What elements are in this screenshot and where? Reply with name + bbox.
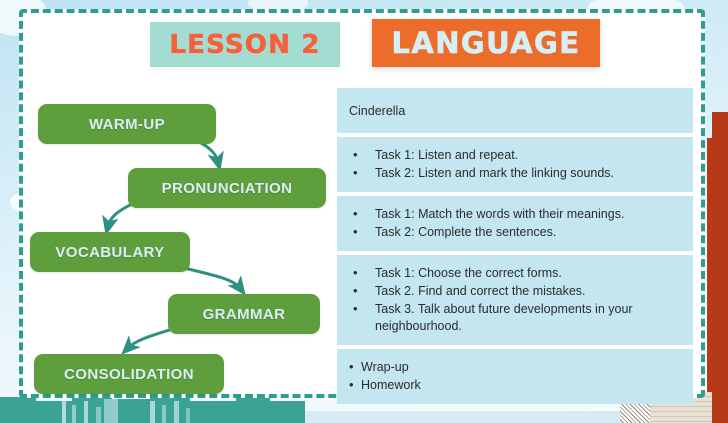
language-banner: LANGUAGE <box>372 19 600 67</box>
arrow-grammar-to-consolidation <box>128 328 176 348</box>
flow-step-label: GRAMMAR <box>203 306 286 323</box>
story-title: Cinderella <box>349 104 405 118</box>
slide-canvas: LESSON 2 LANGUAGE WARM-UP PRONUNCIATION <box>0 0 728 423</box>
table-row: Task 1: Choose the correct forms. Task 2… <box>337 255 693 345</box>
arrow-vocabulary-to-grammar <box>184 268 240 288</box>
list-item: Wrap-up <box>347 359 683 376</box>
list-item: Task 2. Find and correct the mistakes. <box>347 283 683 300</box>
language-banner-label: LANGUAGE <box>392 26 581 60</box>
table-row: Wrap-up Homework <box>337 349 693 404</box>
task-list: Wrap-up Homework <box>347 359 683 394</box>
task-list: Task 1: Match the words with their meani… <box>347 206 683 241</box>
arrow-pronunciation-to-vocabulary <box>108 204 132 226</box>
flow-step-label: VOCABULARY <box>55 244 164 261</box>
lesson-banner-label: LESSON 2 <box>169 30 320 60</box>
lesson-banner: LESSON 2 <box>150 22 340 67</box>
table-row: Task 1: Listen and repeat. Task 2: Liste… <box>337 137 693 192</box>
list-item: Homework <box>347 377 683 394</box>
list-item: Task 2: Listen and mark the linking soun… <box>347 165 683 182</box>
flow-step-pronunciation[interactable]: PRONUNCIATION <box>128 168 326 208</box>
flow-step-consolidation[interactable]: CONSOLIDATION <box>34 354 224 394</box>
table-row: Cinderella <box>337 88 693 133</box>
task-list: Task 1: Listen and repeat. Task 2: Liste… <box>347 147 683 182</box>
list-item: Task 1: Listen and repeat. <box>347 147 683 164</box>
list-item: Task 2: Complete the sentences. <box>347 224 683 241</box>
lesson-flowchart: WARM-UP PRONUNCIATION VOCABULARY GRAMMAR… <box>28 96 328 392</box>
list-item: Task 1: Match the words with their meani… <box>347 206 683 223</box>
table-row: Task 1: Match the words with their meani… <box>337 196 693 251</box>
task-list: Task 1: Choose the correct forms. Task 2… <box>347 265 683 335</box>
flow-step-label: CONSOLIDATION <box>64 366 194 383</box>
flow-step-vocabulary[interactable]: VOCABULARY <box>30 232 190 272</box>
flow-step-label: PRONUNCIATION <box>162 180 293 197</box>
flow-step-label: WARM-UP <box>89 116 165 133</box>
list-item: Task 1: Choose the correct forms. <box>347 265 683 282</box>
flow-step-warm-up[interactable]: WARM-UP <box>38 104 216 144</box>
red-wall-decoration <box>712 112 728 423</box>
lesson-content-table: Cinderella Task 1: Listen and repeat. Ta… <box>337 88 693 404</box>
list-item: Task 3. Talk about future developments i… <box>347 301 683 335</box>
flow-step-grammar[interactable]: GRAMMAR <box>168 294 320 334</box>
